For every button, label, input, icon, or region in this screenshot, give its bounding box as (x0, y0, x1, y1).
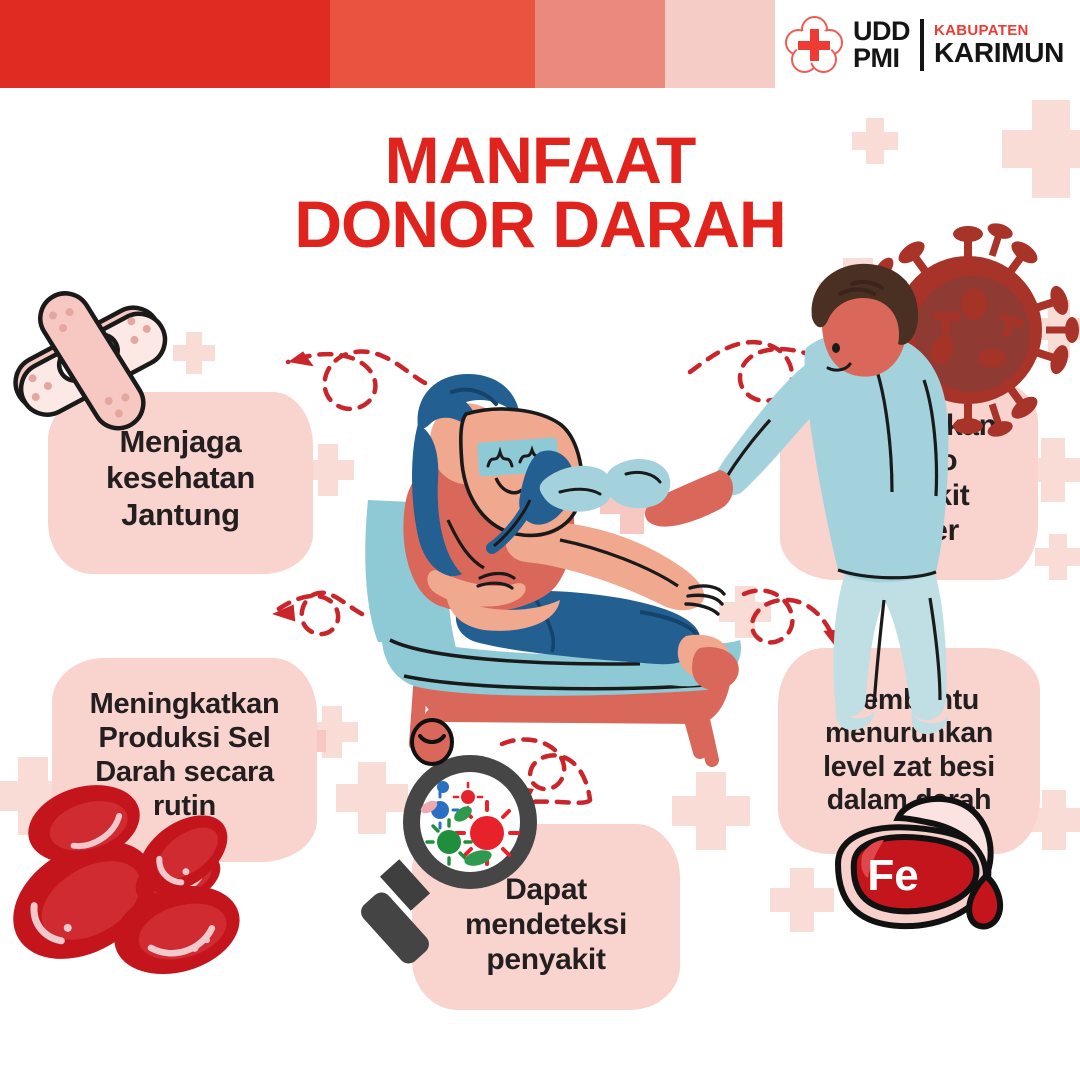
dashed-curly-arrow (288, 352, 425, 409)
pmi-red-cross-icon (785, 16, 843, 74)
logo-org-line2: PMI (853, 45, 910, 72)
nurse-eye (832, 343, 840, 353)
arrowhead (272, 598, 302, 626)
logo-region-name: KARIMUN (934, 39, 1064, 67)
benefit-text-disease-detection: Dapatmendeteksipenyakit (412, 872, 680, 977)
germ-rod-green (451, 803, 474, 824)
page-title: MANFAAT DONOR DARAH (0, 128, 1080, 256)
header-band-red (330, 0, 535, 88)
header-band-salmon (535, 0, 665, 88)
fe-label: Fe (867, 851, 918, 900)
arrowhead (514, 786, 534, 808)
header-band-deep-red (0, 0, 330, 88)
logo-org-text: UDD PMI (853, 18, 910, 72)
germ-blue-small (437, 781, 449, 793)
arrowhead (288, 348, 317, 368)
benefit-text-blood-cell-production: MeningkatkanProduksi SelDarah secararuti… (52, 688, 317, 824)
title-line-1: MANFAAT (0, 128, 1080, 192)
logo-block: UDD PMI KABUPATEN KARIMUN (785, 12, 1070, 78)
logo-region-text: KABUPATEN KARIMUN (934, 23, 1064, 68)
logo-divider (920, 19, 924, 71)
title-line-2: DONOR DARAH (0, 192, 1080, 256)
benefit-text-heart-health: MenjagakesehatanJantung (48, 424, 313, 533)
logo-org-line1: UDD (853, 18, 910, 45)
donor-eye (474, 433, 482, 443)
benefit-text-cancer-risk: MenurunkanResikoPenyakitKanker (780, 408, 1038, 548)
arrowhead (822, 628, 842, 650)
germ-red-small (454, 783, 482, 811)
germ-rod-pink (419, 798, 440, 816)
header-band-pale-pink (665, 0, 775, 88)
infographic-canvas: UDD PMI KABUPATEN KARIMUN MANFAAT DONOR … (0, 0, 1080, 1080)
benefit-text-iron-level: Membantumenurunkanlevel zat besidalam da… (778, 684, 1040, 817)
germ-blue (422, 792, 458, 828)
